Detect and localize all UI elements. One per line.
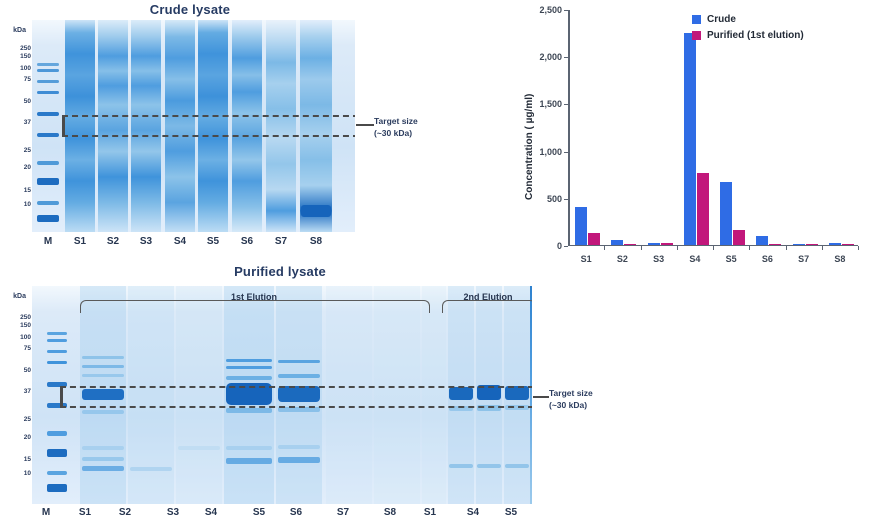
legend-label-crude: Crude <box>707 14 736 25</box>
gel-band <box>37 69 59 72</box>
purified-gel-title: Purified lysate <box>180 264 380 279</box>
bar-S4-crude[interactable] <box>684 33 696 244</box>
crude-target-size-box <box>62 115 355 137</box>
crude-lane-label-M: M <box>44 236 52 247</box>
x-tick-mark <box>604 246 605 250</box>
y-tick-mark <box>564 10 568 11</box>
purified-lane-label-2nd-S1: S1 <box>424 507 436 518</box>
ladder-value-100: 100 <box>20 66 31 73</box>
purified-target-leader <box>533 396 549 398</box>
x-tick-label-S7: S7 <box>798 254 809 264</box>
ladder-value-250: 250 <box>20 315 31 322</box>
ladder-value-50: 50 <box>24 368 31 375</box>
purified-lane-labels: M S1 S2 S3 S4 S5 S6 S7 S8 S1 S4 S5 <box>0 507 660 523</box>
ladder-value-15: 15 <box>24 457 31 464</box>
ladder-value-37: 37 <box>24 120 31 127</box>
bar-S2-purified[interactable] <box>624 244 636 245</box>
bracket-label-1st-elution: 1st Elution <box>227 292 281 302</box>
y-tick-label-2000: 2,000 <box>520 52 562 62</box>
purified-lane-label-1st-S3: S3 <box>167 507 179 518</box>
bar-S2-crude[interactable] <box>611 240 623 245</box>
x-tick-label-S1: S1 <box>581 254 592 264</box>
crude-target-annotation: Target size (~30 kDa) <box>374 115 418 140</box>
crude-lane-labels: M S1 S2 S3 S4 S5 S6 S7 S8 <box>0 236 470 252</box>
ladder-value-20: 20 <box>24 165 31 172</box>
bar-S8-purified[interactable] <box>842 244 854 245</box>
x-tick-mark <box>677 246 678 250</box>
crude-lysate-panel: Crude lysate kDa 250 150 100 75 50 37 25… <box>0 0 470 260</box>
gel-band <box>226 376 272 380</box>
bar-S5-purified[interactable] <box>733 230 745 244</box>
gel-band <box>130 467 172 471</box>
crude-lane-label-S6: S6 <box>241 236 253 247</box>
bar-S6-crude[interactable] <box>756 236 768 244</box>
x-tick-label-S5: S5 <box>726 254 737 264</box>
purified-lane-label-1st-S6: S6 <box>290 507 302 518</box>
gel-band <box>37 215 59 222</box>
gel-band <box>278 360 320 363</box>
gel-lane-M <box>36 20 60 232</box>
y-tick-label-500: 500 <box>520 194 562 204</box>
legend-label-purified: Purified (1st elution) <box>707 30 804 41</box>
legend-swatch-purified <box>692 31 701 40</box>
ladder-value-25: 25 <box>24 417 31 424</box>
crude-target-line2: (~30 kDa) <box>374 127 418 139</box>
y-tick-label-1000: 1,000 <box>520 147 562 157</box>
bar-S5-crude[interactable] <box>720 182 732 244</box>
gel-band <box>226 446 272 450</box>
gel-band <box>226 366 272 369</box>
gel-band <box>278 445 320 449</box>
gel-band <box>47 449 67 457</box>
gel-band <box>47 339 67 342</box>
crude-target-line1: Target size <box>374 115 418 127</box>
crude-kda-header: kDa <box>13 27 26 34</box>
purified-target-line1: Target size <box>549 387 593 399</box>
y-tick-mark <box>564 152 568 153</box>
ladder-value-250: 250 <box>20 46 31 53</box>
gel-band <box>47 332 67 335</box>
gel-band <box>226 359 272 362</box>
ladder-value-25: 25 <box>24 148 31 155</box>
purified-lane-label-2nd-S5: S5 <box>505 507 517 518</box>
ladder-value-10: 10 <box>24 202 31 209</box>
gel-band <box>47 484 67 492</box>
purified-kda-header: kDa <box>13 293 26 300</box>
ladder-value-150: 150 <box>20 323 31 330</box>
gel-band <box>82 410 124 414</box>
x-tick-mark <box>749 246 750 250</box>
ladder-value-150: 150 <box>20 54 31 61</box>
x-tick-mark <box>713 246 714 250</box>
purified-lane-label-1st-S4: S4 <box>205 507 217 518</box>
y-tick-label-0: 0 <box>520 241 562 251</box>
bar-S3-purified[interactable] <box>661 243 673 245</box>
gel-band <box>178 446 220 450</box>
gel-band <box>449 464 473 468</box>
bar-S1-purified[interactable] <box>588 233 600 245</box>
purified-lysate-panel: Purified lysate kDa 250 150 100 75 50 37… <box>0 262 660 532</box>
gel-band <box>82 356 124 359</box>
purified-lane-label-1st-S2: S2 <box>119 507 131 518</box>
gel-band <box>47 361 67 364</box>
concentration-chart-panel: Concentration ( µg/ml) 05001,0001,5002,0… <box>500 0 872 280</box>
crude-lane-label-S4: S4 <box>174 236 186 247</box>
crude-target-leader <box>356 124 374 126</box>
crude-lane-label-S3: S3 <box>140 236 152 247</box>
ladder-value-10: 10 <box>24 471 31 478</box>
legend-item-crude: Crude <box>692 14 804 25</box>
y-tick-mark <box>564 246 568 247</box>
bar-S4-purified[interactable] <box>697 173 709 244</box>
bar-S7-crude[interactable] <box>793 244 805 245</box>
bar-S8-crude[interactable] <box>829 243 841 245</box>
ladder-value-50: 50 <box>24 99 31 106</box>
gel-band <box>82 374 124 377</box>
bar-S6-purified[interactable] <box>769 244 781 245</box>
gel-band <box>37 178 59 185</box>
y-tick-mark <box>564 104 568 105</box>
gel-band <box>37 201 59 205</box>
gel-band <box>477 464 501 468</box>
purified-lane-label-1st-S5: S5 <box>253 507 265 518</box>
crude-gel-image <box>32 20 355 232</box>
purified-target-line2: (~30 kDa) <box>549 399 593 411</box>
ladder-value-75: 75 <box>24 346 31 353</box>
gel-band <box>47 431 67 436</box>
crude-lane-label-S1: S1 <box>74 236 86 247</box>
bracket-label-2nd-elution: 2nd Elution <box>460 292 517 302</box>
gel-band <box>82 446 124 450</box>
y-tick-mark <box>564 57 568 58</box>
purified-gel-image <box>32 286 532 504</box>
purified-lane-label-1st-S8: S8 <box>384 507 396 518</box>
chart-legend: Crude Purified (1st elution) <box>692 14 804 46</box>
y-tick-label-1500: 1,500 <box>520 99 562 109</box>
gel-band <box>37 91 59 94</box>
x-tick-mark <box>822 246 823 250</box>
x-tick-mark <box>786 246 787 250</box>
gel-band <box>82 457 124 461</box>
gel-band <box>82 365 124 368</box>
purified-lane-label-2nd-S4: S4 <box>467 507 479 518</box>
gel-band <box>37 80 59 83</box>
x-tick-mark <box>858 246 859 250</box>
gel-band <box>226 408 272 413</box>
purified-lane-label-M: M <box>42 507 50 518</box>
gel-band <box>505 464 529 468</box>
gel-band <box>301 205 330 217</box>
y-tick-mark <box>564 199 568 200</box>
ladder-value-15: 15 <box>24 188 31 195</box>
crude-lane-label-S7: S7 <box>275 236 287 247</box>
gel-band <box>82 466 124 471</box>
bar-S7-purified[interactable] <box>806 244 818 245</box>
gel-band <box>47 471 67 475</box>
gel-band <box>37 112 59 116</box>
purified-target-size-box <box>60 386 532 408</box>
ladder-value-37: 37 <box>24 389 31 396</box>
x-tick-label-S4: S4 <box>689 254 700 264</box>
purified-target-annotation: Target size (~30 kDa) <box>549 387 593 412</box>
purified-lane-label-1st-S7: S7 <box>337 507 349 518</box>
gel-band <box>37 133 59 137</box>
ladder-value-75: 75 <box>24 77 31 84</box>
purified-lane-label-1st-S1: S1 <box>79 507 91 518</box>
ladder-value-100: 100 <box>20 335 31 342</box>
gel-band <box>278 457 320 463</box>
crude-lane-label-S8: S8 <box>310 236 322 247</box>
x-tick-label-S3: S3 <box>653 254 664 264</box>
x-tick-label-S6: S6 <box>762 254 773 264</box>
gel-band <box>47 350 67 353</box>
bar-S1-crude[interactable] <box>575 207 587 245</box>
y-tick-label-2500: 2,500 <box>520 5 562 15</box>
gel-band <box>226 458 272 464</box>
legend-item-purified: Purified (1st elution) <box>692 30 804 41</box>
legend-swatch-crude <box>692 15 701 24</box>
ladder-value-20: 20 <box>24 435 31 442</box>
crude-lane-label-S5: S5 <box>207 236 219 247</box>
gel-band <box>37 161 59 165</box>
crude-gel-title: Crude lysate <box>30 2 350 17</box>
bar-S3-crude[interactable] <box>648 243 660 245</box>
gel-band <box>37 63 59 66</box>
crude-lane-label-S2: S2 <box>107 236 119 247</box>
x-tick-label-S8: S8 <box>834 254 845 264</box>
x-tick-label-S2: S2 <box>617 254 628 264</box>
x-tick-mark <box>641 246 642 250</box>
gel-band <box>278 374 320 378</box>
